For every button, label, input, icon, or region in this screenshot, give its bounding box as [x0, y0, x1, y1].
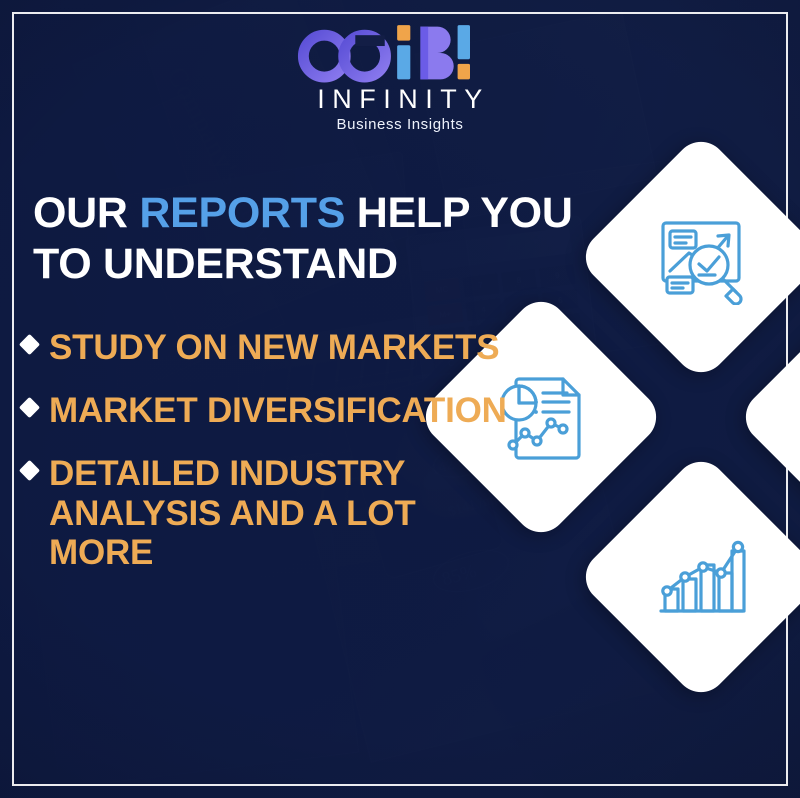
marketing-poster: Company's Growth 85% ance MC789 M+456 AC…: [0, 0, 800, 798]
list-item: DETAILED INDUSTRY ANALYSIS AND A LOT MOR…: [22, 454, 522, 572]
market-analysis-magnifier-icon: [612, 168, 790, 346]
growth-bar-chart-icon: [612, 488, 790, 666]
brand-tagline: Business Insights: [0, 117, 800, 132]
headline-line-2: TO UNDERSTAND: [33, 240, 398, 288]
headline-accent-reports: REPORTS: [139, 189, 345, 237]
list-item-label: MARKET DIVERSIFICATION: [49, 391, 507, 430]
page-title: OUR REPORTS HELP YOU TO UNDERSTAND: [33, 188, 633, 289]
list-item-label: DETAILED INDUSTRY ANALYSIS AND A LOT MOR…: [49, 454, 522, 572]
headline-part-2: HELP YOU: [345, 189, 573, 237]
list-item: MARKET DIVERSIFICATION: [22, 391, 522, 430]
partial-card-icon: [772, 328, 800, 506]
diamond-bullet-icon: [19, 460, 40, 481]
diamond-bullet-icon: [19, 397, 40, 418]
diamond-bullet-icon: [19, 334, 40, 355]
infinity-ib-logo-icon: [284, 22, 517, 84]
brand-logo: INFINITY Business Insights: [0, 22, 800, 132]
brand-name: INFINITY: [0, 86, 800, 113]
list-item-label: STUDY ON NEW MARKETS: [49, 328, 499, 367]
benefits-list: STUDY ON NEW MARKETS MARKET DIVERSIFICAT…: [22, 328, 522, 596]
headline-part-1: OUR: [33, 189, 139, 237]
list-item: STUDY ON NEW MARKETS: [22, 328, 522, 367]
